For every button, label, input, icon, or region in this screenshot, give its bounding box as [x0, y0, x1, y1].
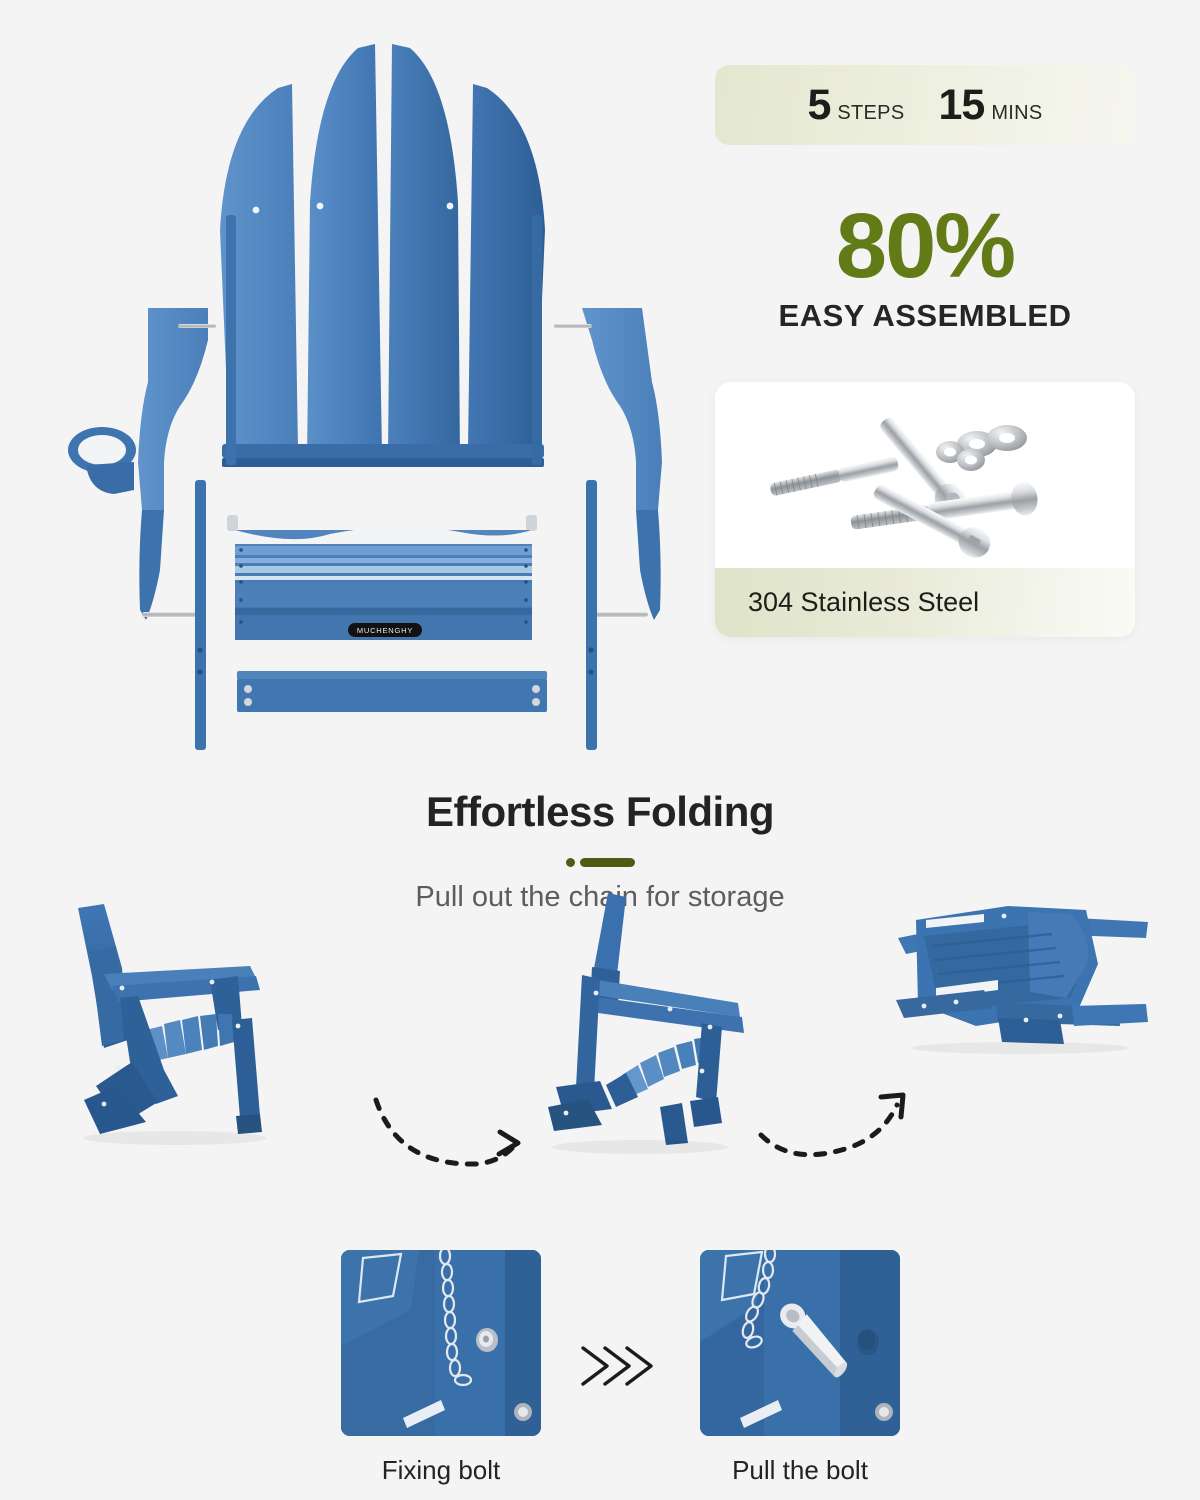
top-section: MUCHENGHY 5 STEPS 15 MINS [0, 0, 1200, 770]
washer-group [936, 425, 1027, 471]
back-cross-rail [222, 444, 544, 467]
fixing-bolt-label: Fixing bolt [341, 1455, 541, 1486]
bolts-illustration [715, 382, 1135, 568]
divider-dot [566, 858, 575, 867]
seat-slats [146, 1014, 234, 1062]
fixing-bolt-svg [341, 1250, 541, 1436]
percent-block: 80% EASY ASSEMBLED [715, 203, 1135, 334]
fold-arrow-1 [368, 1088, 533, 1183]
percent-value: 80% [715, 203, 1135, 290]
right-leg-rail [586, 480, 597, 750]
brand-label: MUCHENGHY [357, 626, 413, 635]
chevron-right-triple-icon [575, 1338, 665, 1393]
hardware-photo [715, 382, 1135, 568]
percent-caption: EASY ASSEMBLED [715, 298, 1135, 334]
mins-number: 15 [938, 81, 984, 130]
exploded-chair-svg: MUCHENGHY [30, 10, 700, 760]
steps-time-badge: 5 STEPS 15 MINS [715, 65, 1135, 145]
left-leg-rail [195, 480, 206, 750]
chair-open-side-svg [60, 890, 350, 1220]
title-divider [0, 858, 1200, 867]
detail-panel-fixing-bolt: Fixing bolt [341, 1250, 541, 1486]
detail-panel-pull-bolt: Pull the bolt [700, 1250, 900, 1486]
chair-back-slats [220, 44, 545, 462]
chair-flat-folded-svg [880, 880, 1180, 1070]
back-right-rail [532, 215, 542, 465]
stainless-steel-card: 304 Stainless Steel [715, 382, 1135, 637]
right-armrest [554, 308, 662, 620]
folding-stage-row [0, 870, 1200, 1260]
left-armrest-with-cup-holder [68, 308, 216, 620]
bolt-head-seated [476, 1328, 498, 1352]
steel-caption: 304 Stainless Steel [715, 568, 1135, 637]
fold-arrow-2 [755, 1075, 925, 1175]
mins-group: 15 MINS [938, 81, 1042, 130]
right-info-column: 5 STEPS 15 MINS 80% EASY ASSEMBLED [715, 65, 1135, 637]
seat-assembly: MUCHENGHY [227, 515, 537, 640]
front-apron-rail [237, 671, 547, 712]
steps-unit: STEPS [837, 102, 904, 125]
exploded-chair-diagram: MUCHENGHY [30, 10, 700, 760]
stage-chair-open [60, 890, 350, 1220]
divider-bar [580, 858, 635, 867]
stage-chair-flat-folded [880, 880, 1180, 1070]
steps-number: 5 [807, 81, 830, 130]
steps-group: 5 STEPS [807, 81, 904, 130]
pull-bolt-label: Pull the bolt [700, 1455, 900, 1486]
pull-bolt-photo [700, 1250, 900, 1436]
mins-unit: MINS [991, 102, 1042, 125]
back-left-rail [226, 215, 236, 465]
folding-title: Effortless Folding [0, 770, 1200, 836]
fixing-bolt-photo [341, 1250, 541, 1436]
pull-bolt-svg [700, 1250, 900, 1436]
